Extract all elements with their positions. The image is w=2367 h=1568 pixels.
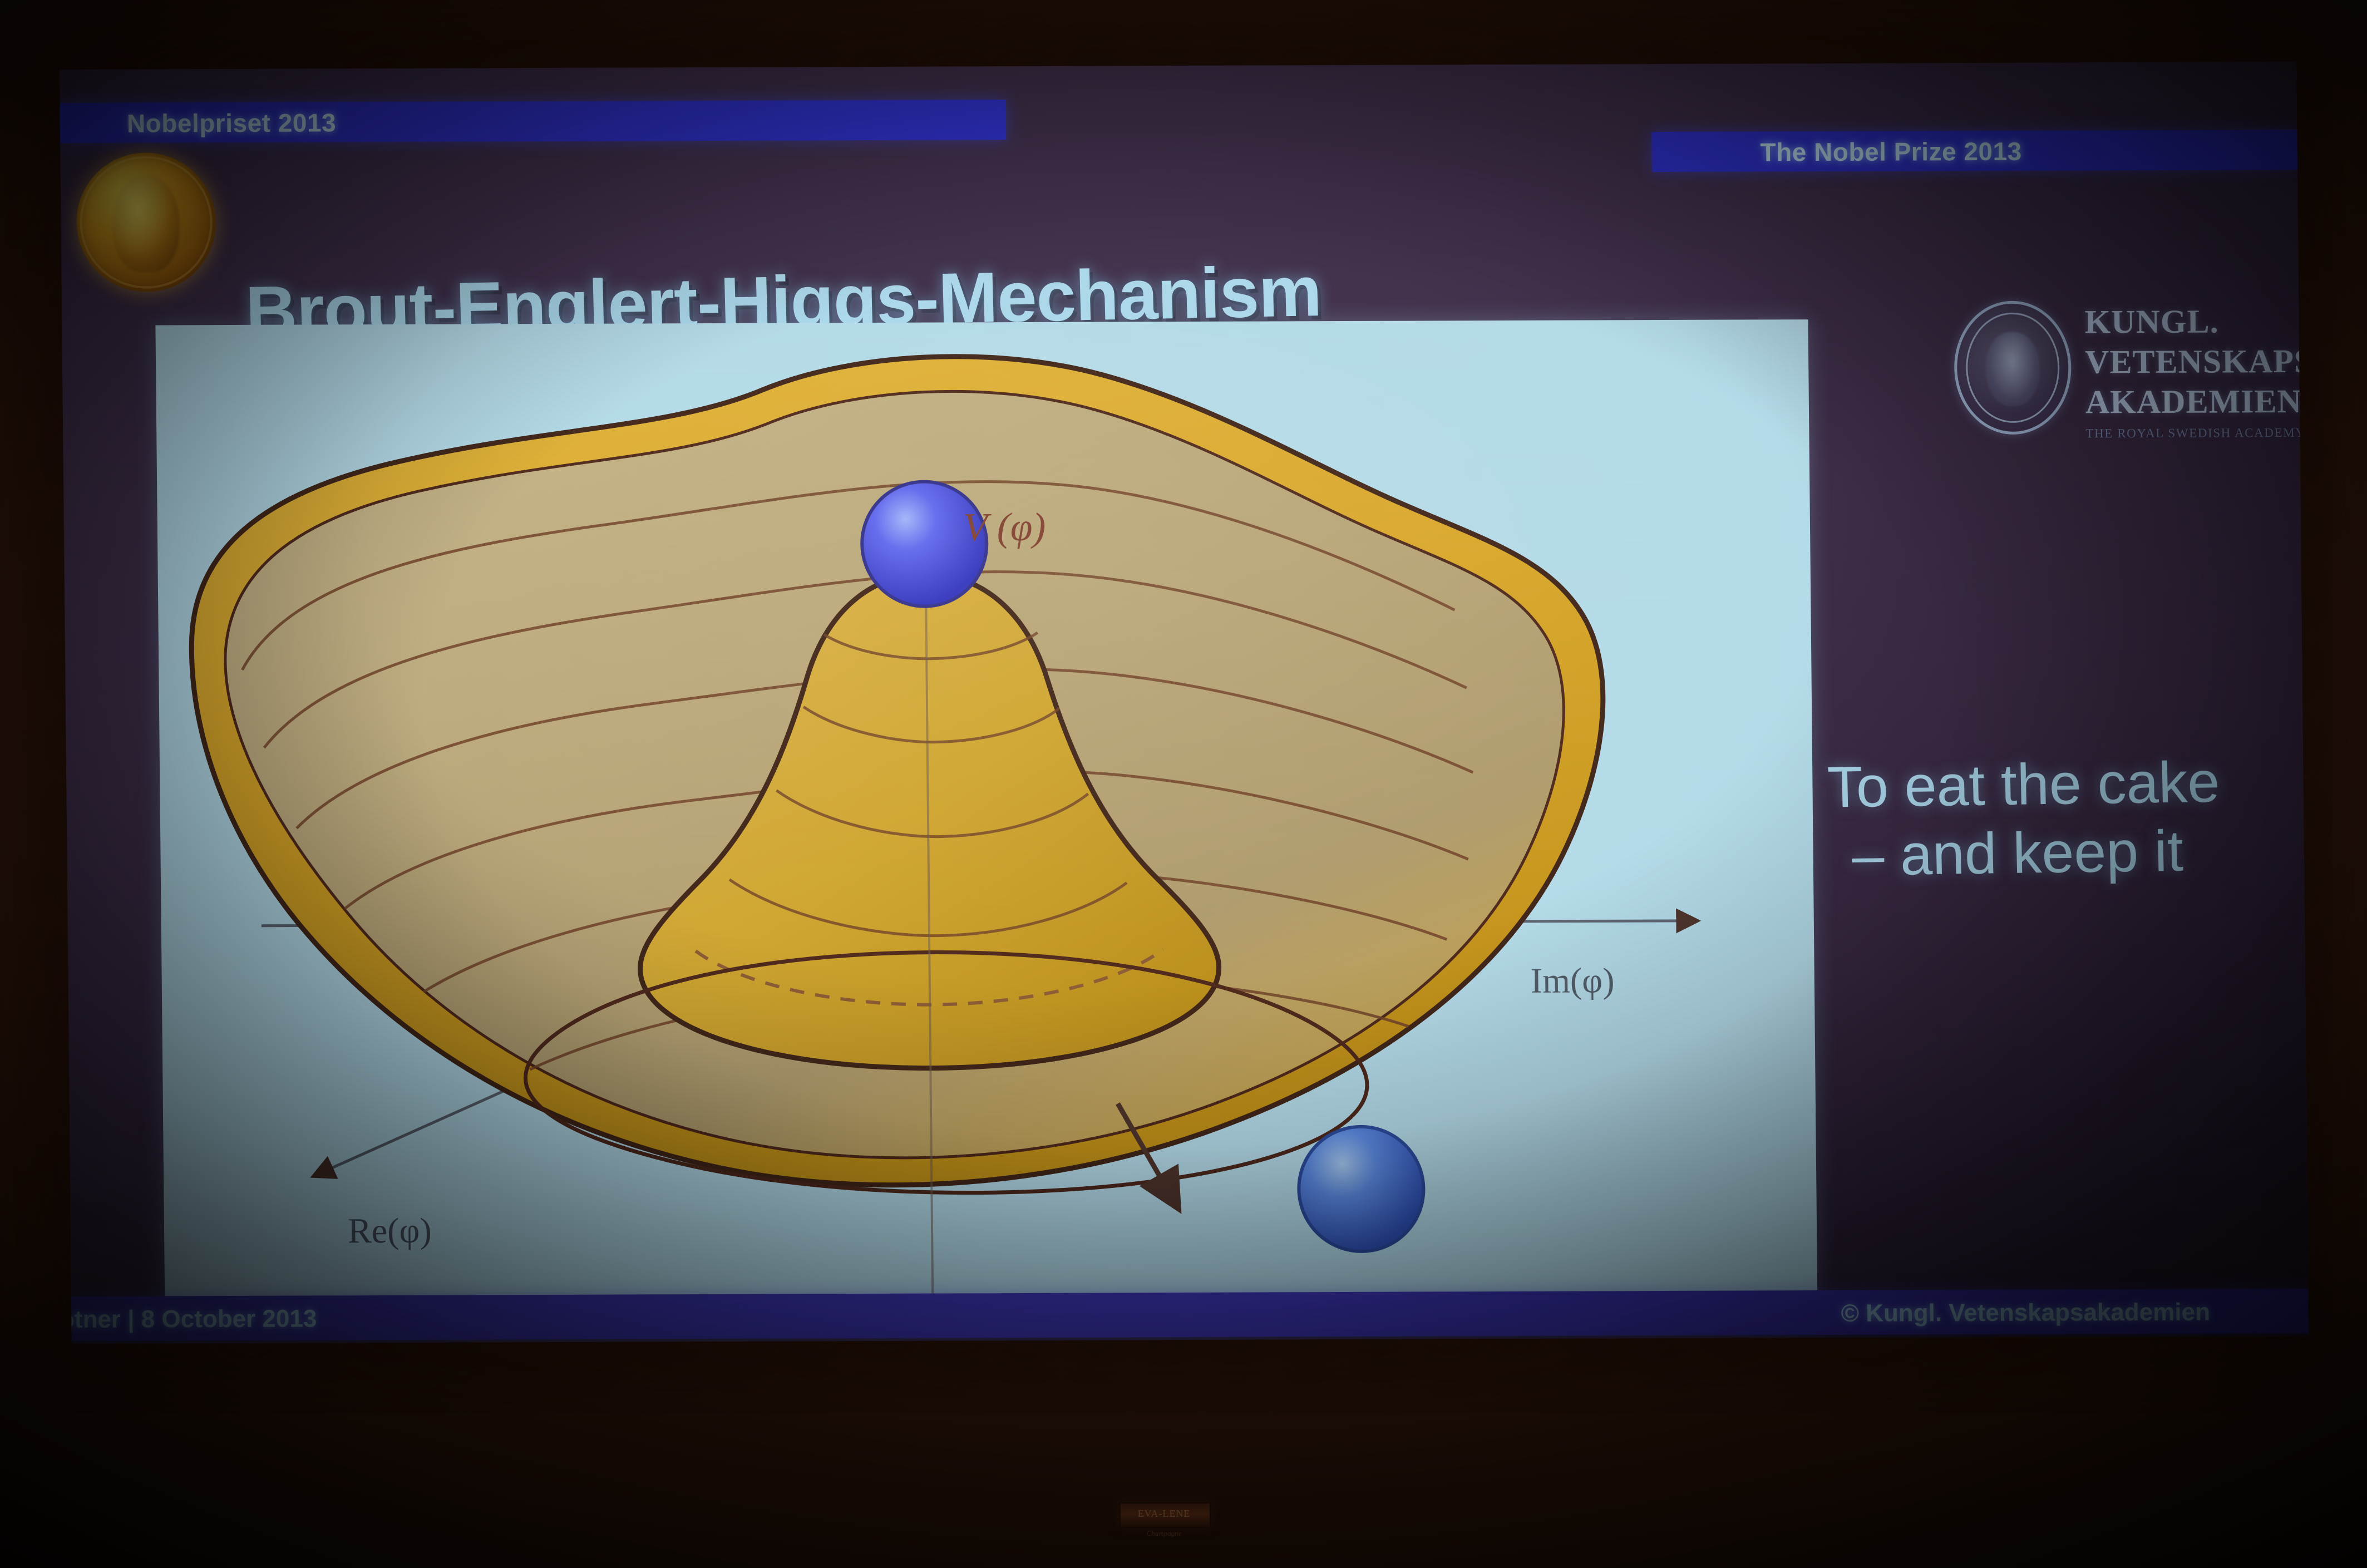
higgs-potential-figure: V (φ) Im(φ) Re(φ) (155, 319, 1817, 1332)
wall-plaque-label: EVA-LENE (1120, 1508, 1209, 1520)
header-title-sv: Nobelpriset 2013 (127, 107, 337, 138)
caption-line-1: To eat the cake (1827, 750, 2221, 820)
slide-caption: To eat the cake – and keep it (1827, 746, 2309, 890)
kva-seal-icon (1954, 300, 2072, 435)
caption-line-2: – and keep it (1828, 813, 2309, 890)
kva-logo: KUNGL. VETENSKAPS- AKADEMIEN THE ROYAL S… (1954, 294, 2309, 435)
kva-line-2: VETENSKAPS- (2085, 342, 2309, 382)
footer-author-date: a Botner | 8 October 2013 (60, 1305, 317, 1334)
axis-label-v: V (φ) (963, 505, 1046, 550)
axis-label-re: Re(φ) (348, 1211, 432, 1251)
auditorium-background: Nobelpriset 2013 The Nobel Prize 2013 Br… (0, 0, 2367, 1568)
kva-line-1: KUNGL. (2084, 303, 2219, 342)
slide-canvas: Nobelpriset 2013 The Nobel Prize 2013 Br… (60, 62, 2309, 1344)
seal-figure-relief (1986, 332, 2040, 406)
header-title-en: The Nobel Prize 2013 (1760, 136, 2022, 167)
projected-slide: Nobelpriset 2013 The Nobel Prize 2013 Br… (60, 62, 2309, 1344)
kva-subtitle: THE ROYAL SWEDISH ACADEMY OF SCIENCES (2085, 425, 2309, 441)
nobel-medal-icon (76, 152, 216, 292)
ball-vacuum-trough (1298, 1126, 1424, 1251)
axis-label-im: Im(φ) (1530, 960, 1614, 1000)
potential-surface-svg: V (φ) Im(φ) Re(φ) (155, 319, 1817, 1332)
footer-copyright: © Kungl. Vetenskapsakademien (1841, 1299, 2210, 1328)
wall-plaque-sublabel: Champagne (1120, 1529, 1209, 1538)
medal-rim (79, 156, 213, 289)
kva-line-3: AKADEMIEN (2085, 382, 2302, 421)
